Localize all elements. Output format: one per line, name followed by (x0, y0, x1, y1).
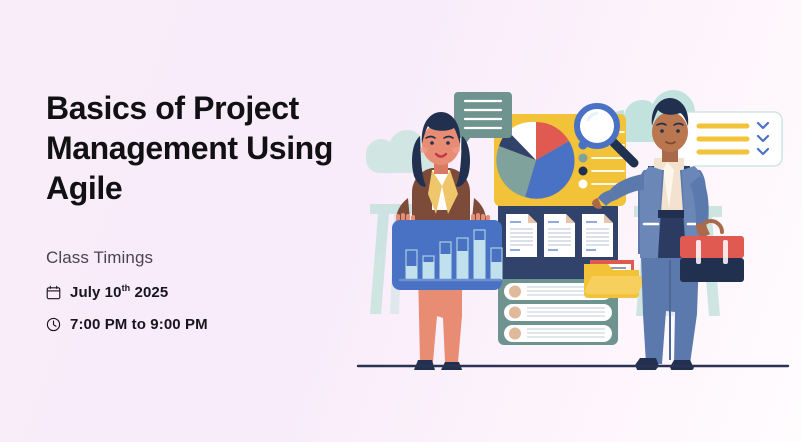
list-item (504, 325, 612, 342)
document-icon (506, 214, 537, 257)
event-banner: Basics of Project Management Using Agile… (0, 0, 802, 442)
clock-icon (46, 317, 61, 332)
class-date-text: July 10th 2025 (70, 283, 168, 301)
class-date-row: July 10th 2025 (46, 283, 376, 301)
calendar-icon (46, 285, 61, 300)
checklist-bubble (676, 112, 782, 176)
project-management-teamwork-illustration (352, 74, 792, 370)
banner-text-column: Basics of Project Management Using Agile… (46, 88, 376, 333)
list-item (504, 304, 612, 321)
document-icon (582, 214, 613, 257)
folder-icon (584, 260, 647, 298)
class-timings-label: Class Timings (46, 248, 376, 268)
page-title: Basics of Project Management Using Agile (46, 88, 366, 208)
class-time-text: 7:00 PM to 9:00 PM (70, 316, 208, 333)
class-time-row: 7:00 PM to 9:00 PM (46, 316, 376, 333)
document-icon (544, 214, 575, 257)
